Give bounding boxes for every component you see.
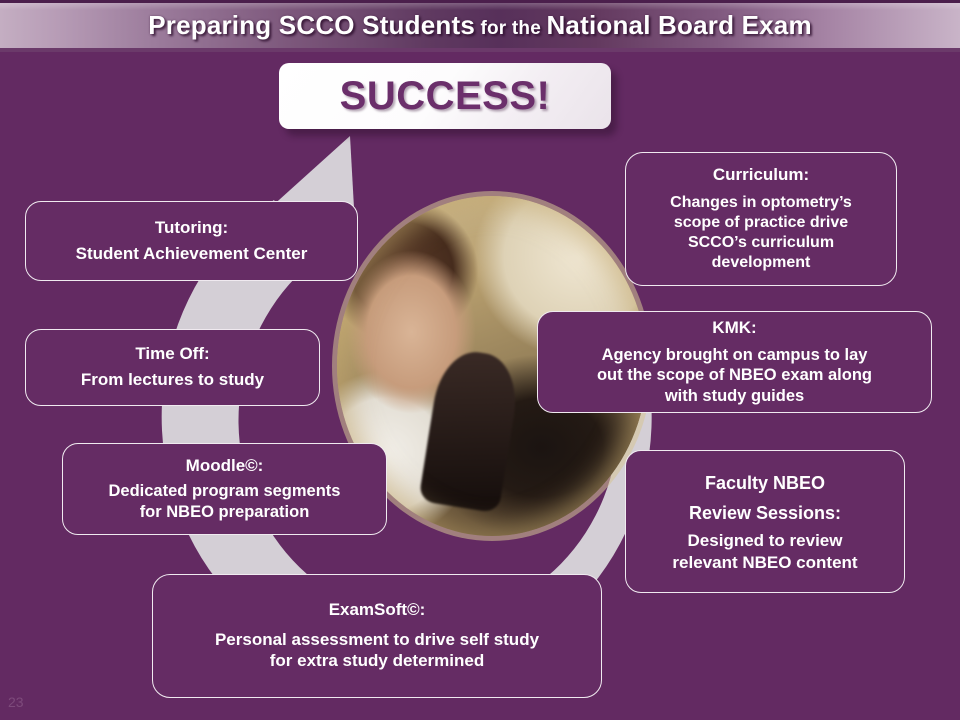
slide-number: 23: [8, 694, 24, 710]
callout-tutoring-body: Student Achievement Center: [36, 244, 347, 264]
callout-curriculum-line-4: development: [636, 253, 886, 273]
callout-tutoring[interactable]: Tutoring: Student Achievement Center: [25, 201, 358, 281]
callout-examsoft-body: Personal assessment to drive self study …: [163, 629, 591, 672]
callout-curriculum-line-2: scope of practice drive: [636, 213, 886, 233]
callout-faculty-header-2: Review Sessions:: [636, 500, 894, 526]
callout-moodle-body: Dedicated program segments for NBEO prep…: [73, 481, 376, 522]
callout-faculty-review[interactable]: Faculty NBEO Review Sessions: Designed t…: [625, 450, 905, 593]
callout-kmk-line-3: with study guides: [548, 386, 921, 406]
title-part-connector: for the: [475, 18, 546, 39]
callout-tutoring-header: Tutoring:: [36, 218, 347, 239]
page-title: Preparing SCCO Students for the National…: [148, 10, 812, 41]
callout-curriculum-line-3: SCCO’s curriculum: [636, 233, 886, 253]
callout-curriculum-line-1: Changes in optometry’s: [636, 193, 886, 213]
callout-faculty-line-1: Designed to review: [636, 530, 894, 551]
callout-faculty-header-1: Faculty NBEO: [636, 470, 894, 496]
callout-curriculum-body: Changes in optometry’s scope of practice…: [636, 193, 886, 272]
callout-examsoft-header: ExamSoft©:: [163, 600, 591, 621]
success-label: SUCCESS!: [340, 74, 551, 119]
callout-time-off[interactable]: Time Off: From lectures to study: [25, 329, 320, 406]
callout-moodle-line-2: for NBEO preparation: [73, 502, 376, 522]
callout-faculty-line-2: relevant NBEO content: [636, 552, 894, 573]
slide-title-banner: Preparing SCCO Students for the National…: [0, 0, 960, 52]
callout-moodle-line-1: Dedicated program segments: [73, 481, 376, 501]
callout-time-off-body: From lectures to study: [36, 370, 309, 390]
callout-curriculum[interactable]: Curriculum: Changes in optometry’s scope…: [625, 152, 897, 286]
slide-canvas: Preparing SCCO Students for the National…: [0, 0, 960, 720]
callout-tutoring-line-1: Student Achievement Center: [36, 244, 347, 264]
callout-moodle-header: Moodle©:: [73, 456, 376, 477]
callout-faculty-body: Designed to review relevant NBEO content: [636, 530, 894, 573]
callout-time-off-header: Time Off:: [36, 344, 309, 365]
callout-time-off-line-1: From lectures to study: [36, 370, 309, 390]
callout-moodle[interactable]: Moodle©: Dedicated program segments for …: [62, 443, 387, 535]
callout-kmk[interactable]: KMK: Agency brought on campus to lay out…: [537, 311, 932, 413]
callout-examsoft[interactable]: ExamSoft©: Personal assessment to drive …: [152, 574, 602, 698]
success-callout: SUCCESS!: [279, 63, 611, 129]
callout-kmk-line-2: out the scope of NBEO exam along: [548, 365, 921, 385]
callout-kmk-body: Agency brought on campus to lay out the …: [548, 345, 921, 406]
callout-kmk-header: KMK:: [548, 318, 921, 339]
title-part-2: National Board Exam: [546, 10, 811, 40]
callout-examsoft-line-2: for extra study determined: [163, 650, 591, 671]
callout-curriculum-header: Curriculum:: [636, 165, 886, 186]
callout-kmk-line-1: Agency brought on campus to lay: [548, 345, 921, 365]
title-part-1: Preparing SCCO Students: [148, 10, 475, 40]
callout-examsoft-line-1: Personal assessment to drive self study: [163, 629, 591, 650]
